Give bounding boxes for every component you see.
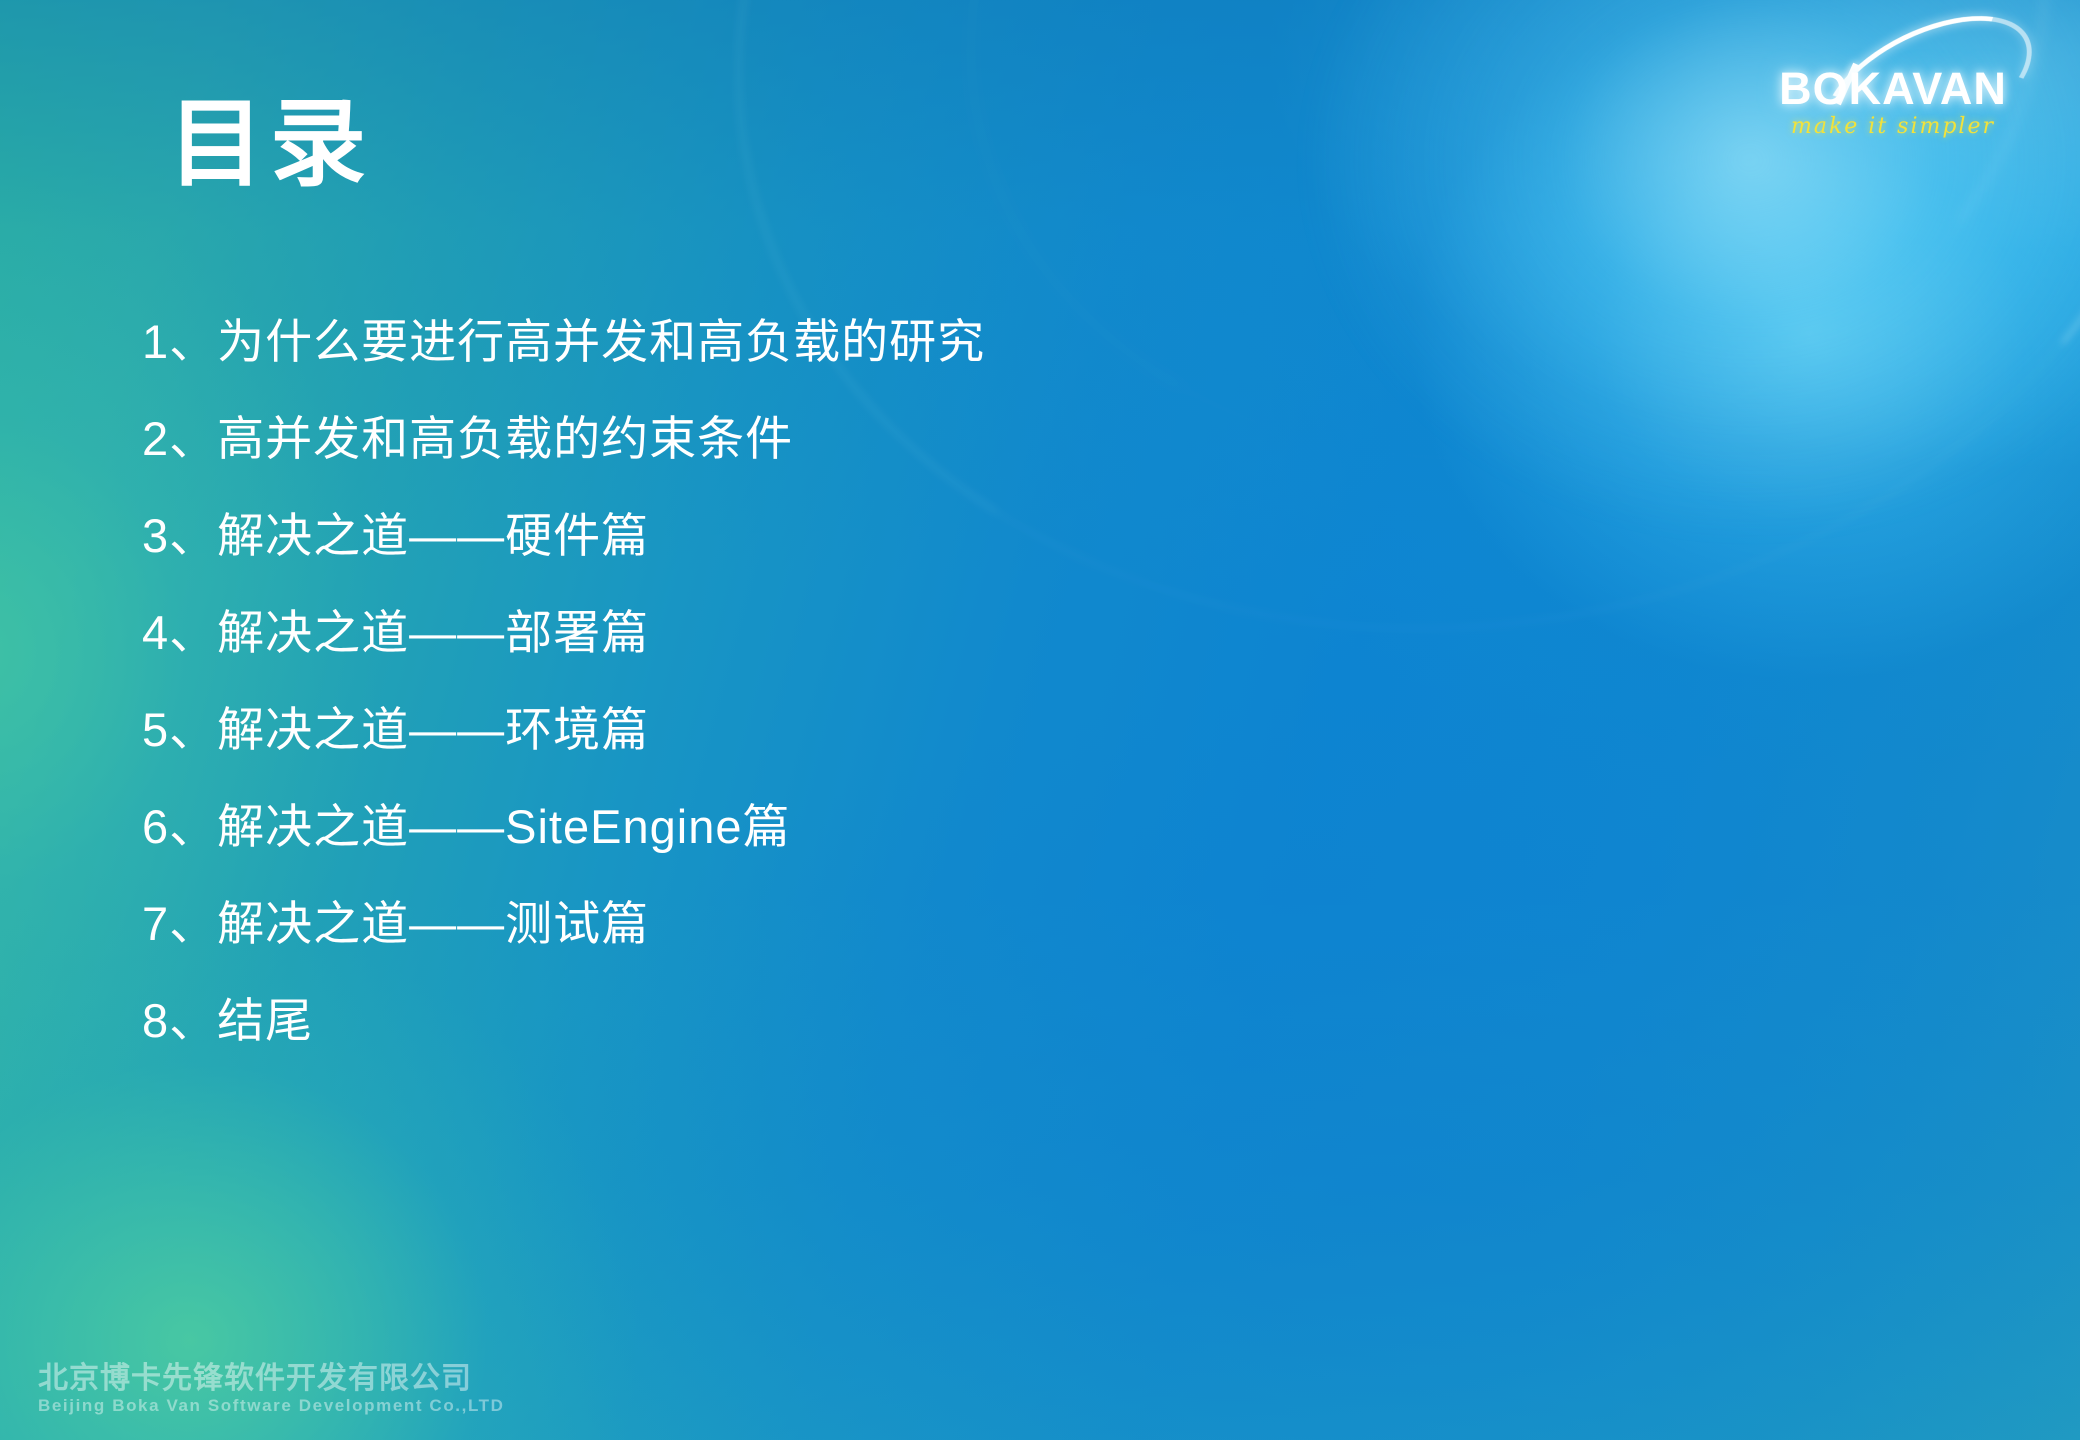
toc-item-3[interactable]: 3、解决之道——硬件篇	[142, 512, 1542, 559]
toc-item-2[interactable]: 2、高并发和高负载的约束条件	[142, 415, 1542, 462]
table-of-contents: 1、为什么要进行高并发和高负载的研究 2、高并发和高负载的约束条件 3、解决之道…	[142, 318, 1542, 1094]
toc-item-5[interactable]: 5、解决之道——环境篇	[142, 706, 1542, 753]
toc-item-6[interactable]: 6、解决之道——SiteEngine篇	[142, 803, 1542, 850]
toc-item-1[interactable]: 1、为什么要进行高并发和高负载的研究	[142, 318, 1542, 365]
logo-tagline: make it simpler	[1768, 116, 2018, 138]
footer-company-name-cn: 北京博卡先锋软件开发有限公司	[38, 1361, 505, 1396]
company-logo: BOKAVAN make it simpler	[1768, 36, 2018, 128]
toc-item-4[interactable]: 4、解决之道——部署篇	[142, 609, 1542, 656]
page-title: 目录	[168, 92, 372, 198]
toc-item-7[interactable]: 7、解决之道——测试篇	[142, 900, 1542, 947]
presentation-slide: BOKAVAN make it simpler 目录 1、为什么要进行高并发和高…	[0, 0, 2080, 1440]
footer-company-name-en: Beijing Boka Van Software Development Co…	[38, 1396, 505, 1416]
logo-wordmark: BOKAVAN	[1768, 66, 2018, 111]
slide-footer: 北京博卡先锋软件开发有限公司 Beijing Boka Van Software…	[38, 1361, 505, 1416]
toc-item-8[interactable]: 8、结尾	[142, 997, 1542, 1044]
